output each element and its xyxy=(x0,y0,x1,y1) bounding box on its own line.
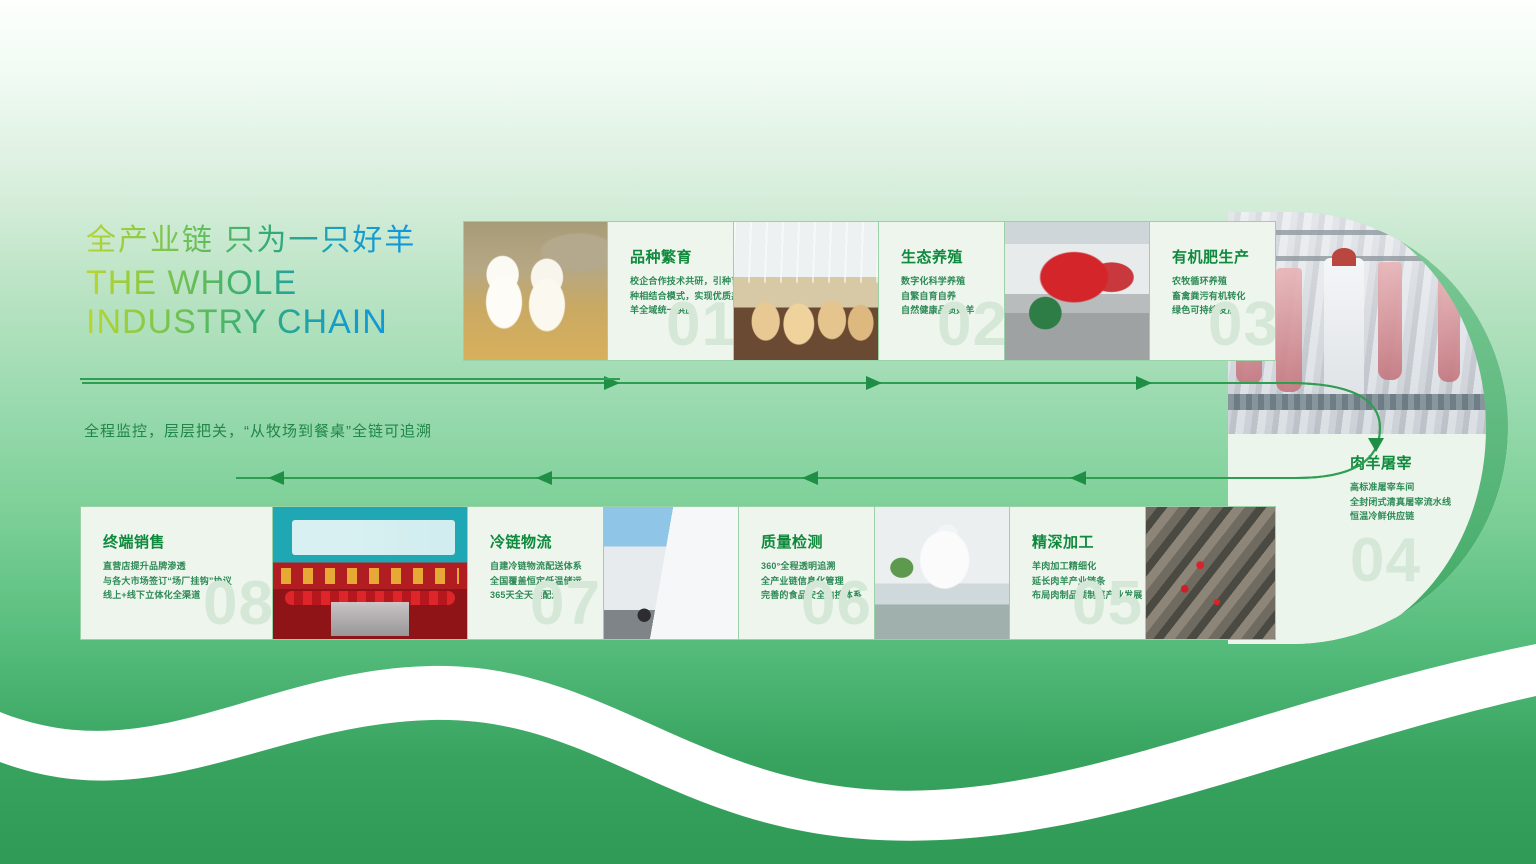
page-title-en-line2: INDUSTRY CHAIN xyxy=(86,303,416,343)
flow-arrow-right xyxy=(1136,376,1152,390)
organic-fertilizer-plant-photo[interactable] xyxy=(1005,221,1150,361)
panel-02[interactable]: 生态养殖 数字化科学养殖 自繁自育自养 自然健康品质好羊 02 xyxy=(879,221,1005,361)
panel-05-number: 05 xyxy=(1072,573,1143,635)
flow-arrow-left xyxy=(1070,471,1086,485)
panel-08-number: 08 xyxy=(203,573,273,635)
top-process-row: 品种繁育 校企合作技术共研，引种育 种相结合模式，实现优质羔 羊全域统一供应 0… xyxy=(463,221,1276,361)
cold-chain-truck-photo[interactable] xyxy=(604,506,739,640)
panel-02-title: 生态养殖 xyxy=(901,246,975,267)
panel-05[interactable]: 精深加工 羊肉加工精细化 延长肉羊产业链条 布局肉制品预制菜产业发展 05 xyxy=(1010,506,1146,640)
flow-arrow-right xyxy=(866,376,882,390)
panel-08[interactable]: 终端销售 直营店提升品牌渗透 与各大市场签订“场厂挂钩”协议 线上+线下立体化全… xyxy=(80,506,273,640)
panel-07-number: 07 xyxy=(530,573,601,635)
panel-05-title: 精深加工 xyxy=(1032,531,1142,552)
quality-lab-photo[interactable] xyxy=(875,506,1010,640)
page-header: 全产业链 只为一只好羊 THE WHOLE INDUSTRY CHAIN xyxy=(86,222,416,343)
page-title-en-line1: THE WHOLE xyxy=(86,264,416,304)
page-title-cn: 全产业链 只为一只好羊 xyxy=(86,222,416,260)
panel-06-number: 06 xyxy=(801,573,872,635)
bottom-process-row: 终端销售 直营店提升品牌渗透 与各大市场签订“场厂挂钩”协议 线上+线下立体化全… xyxy=(80,506,1276,640)
flow-arrow-left xyxy=(802,471,818,485)
panel-06-title: 质量检测 xyxy=(761,531,862,552)
header-divider xyxy=(80,378,620,380)
panel-07[interactable]: 冷链物流 自建冷链物流配送体系 全国覆盖恒定低温储运 365天全天候配送 07 xyxy=(468,506,604,640)
panel-02-number: 02 xyxy=(937,294,1005,356)
panel-03-number: 03 xyxy=(1208,294,1276,356)
panel-03-title: 有机肥生产 xyxy=(1172,246,1250,267)
processed-meat-product-photo[interactable] xyxy=(1146,506,1276,640)
panel-01-number: 01 xyxy=(666,294,734,356)
panel-01-title: 品种繁育 xyxy=(630,246,734,267)
lambs-in-pen-photo[interactable] xyxy=(463,221,608,361)
tagline: 全程监控，层层把关，“从牧场到餐桌”全链可追溯 xyxy=(84,420,432,441)
sheep-barn-photo[interactable] xyxy=(734,221,879,361)
panel-07-title: 冷链物流 xyxy=(490,531,582,552)
panel-06[interactable]: 质量检测 360°全程透明追溯 全产业链信息化管理 完善的食品安全内控体系 06 xyxy=(739,506,875,640)
panel-03[interactable]: 有机肥生产 农牧循环养殖 畜禽粪污有机转化 绿色可持续发展 03 xyxy=(1150,221,1276,361)
flow-arrow-left xyxy=(268,471,284,485)
flow-arrow-down xyxy=(1368,438,1384,452)
retail-store-photo[interactable] xyxy=(273,506,468,640)
panel-01[interactable]: 品种繁育 校企合作技术共研，引种育 种相结合模式，实现优质羔 羊全域统一供应 0… xyxy=(608,221,734,361)
panel-08-title: 终端销售 xyxy=(103,531,232,552)
flow-arrow-left xyxy=(536,471,552,485)
